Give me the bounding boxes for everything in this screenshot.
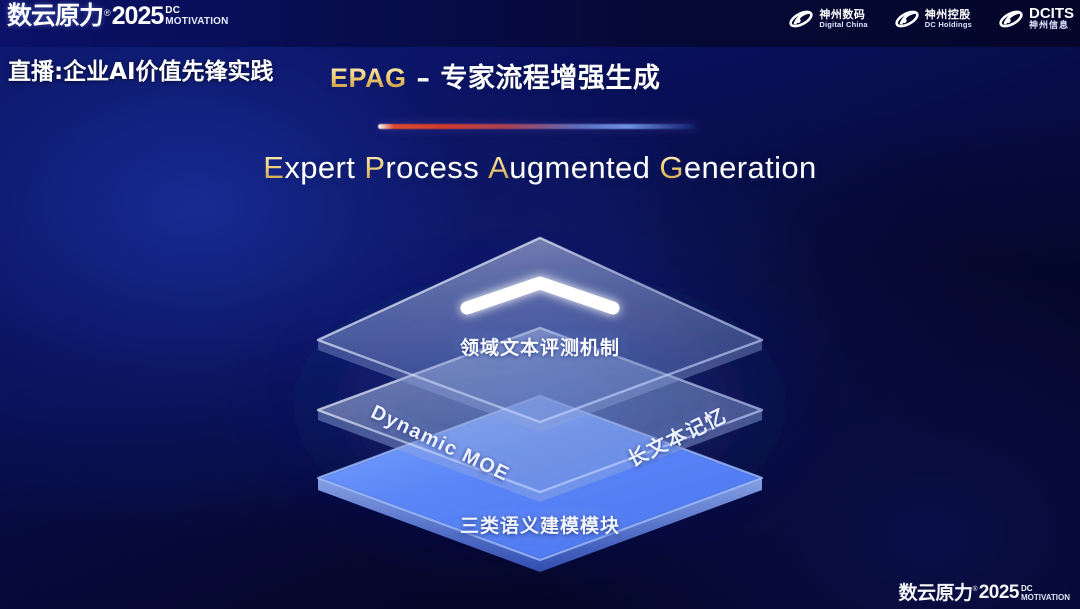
subtitle-cap-p: P xyxy=(364,150,385,185)
partner-logo-text: 神州数码 Digital China xyxy=(819,9,867,28)
subtitle-word-expert: Expert xyxy=(263,150,355,185)
title-divider xyxy=(378,124,698,129)
partner-name-en: Digital China xyxy=(819,21,867,29)
partner-logo-dcits: DCITS 神州信息 xyxy=(998,6,1074,32)
watermark-dc-motivation: DC MOTIVATION xyxy=(1021,585,1070,603)
brand-logo: 数云原力 ® 2025 DC MOTIVATION xyxy=(7,3,229,29)
subtitle-cap-a: A xyxy=(488,150,509,185)
watermark-year: 2025 xyxy=(979,583,1019,603)
subtitle-word-process: Process xyxy=(364,150,479,185)
watermark-name-cn: 数云原力 xyxy=(899,583,973,603)
partner-logo-digital-china: 神州数码 Digital China xyxy=(788,6,867,32)
swirl-icon xyxy=(998,6,1024,32)
partner-name-en: 神州信息 xyxy=(1029,22,1074,31)
subtitle-rest-augmented: ugmented xyxy=(509,150,650,185)
slide-canvas: 数云原力 ® 2025 DC MOTIVATION 神州数码 Digital C… xyxy=(0,0,1080,609)
brand-dc-motivation: DC MOTIVATION xyxy=(165,6,228,29)
partner-logo-text: DCITS 神州信息 xyxy=(1029,6,1074,31)
subtitle-cap-e: E xyxy=(263,150,284,185)
subtitle-rest-expert: xpert xyxy=(284,150,355,185)
subtitle-cap-g: G xyxy=(659,150,684,185)
swirl-icon xyxy=(788,6,814,32)
page-title-chinese: 专家流程增强生成 xyxy=(440,63,660,94)
subtitle-word-augmented: Augmented xyxy=(488,150,650,185)
subtitle-rest-generation: eneration xyxy=(684,150,817,185)
page-title-acronym: EPAG xyxy=(330,63,407,93)
subtitle-word-generation: Generation xyxy=(659,150,816,185)
page-title: EPAG – 专家流程增强生成 xyxy=(330,56,660,95)
page-title-separator: – xyxy=(407,63,441,94)
watermark-dc-label: DC xyxy=(1021,585,1070,593)
brand-name-cn: 数云原力 xyxy=(7,3,103,29)
brand-motivation-label: MOTIVATION xyxy=(165,16,228,27)
brand-year: 2025 xyxy=(112,3,164,29)
brand-dc-label: DC xyxy=(165,6,228,16)
partner-logo-dc-holdings: 神州控股 DC Holdings xyxy=(894,6,972,32)
watermark-motivation-label: MOTIVATION xyxy=(1021,593,1070,602)
partner-logo-text: 神州控股 DC Holdings xyxy=(925,9,972,28)
brand-registered-mark: ® xyxy=(103,6,112,29)
subtitle-rest-process: rocess xyxy=(385,150,479,185)
page-subtitle: Expert Process Augmented Generation xyxy=(0,150,1080,186)
partner-name-cn: DCITS xyxy=(1029,6,1074,22)
partner-name-en: DC Holdings xyxy=(925,21,972,29)
partner-logo-group: 神州数码 Digital China 神州控股 DC Holdings xyxy=(788,6,1074,32)
swirl-icon xyxy=(894,6,920,32)
bottom-watermark-logo: 数云原力 ® 2025 DC MOTIVATION xyxy=(899,583,1071,603)
live-session-title: 直播:企业AI价值先锋实践 xyxy=(8,52,274,86)
